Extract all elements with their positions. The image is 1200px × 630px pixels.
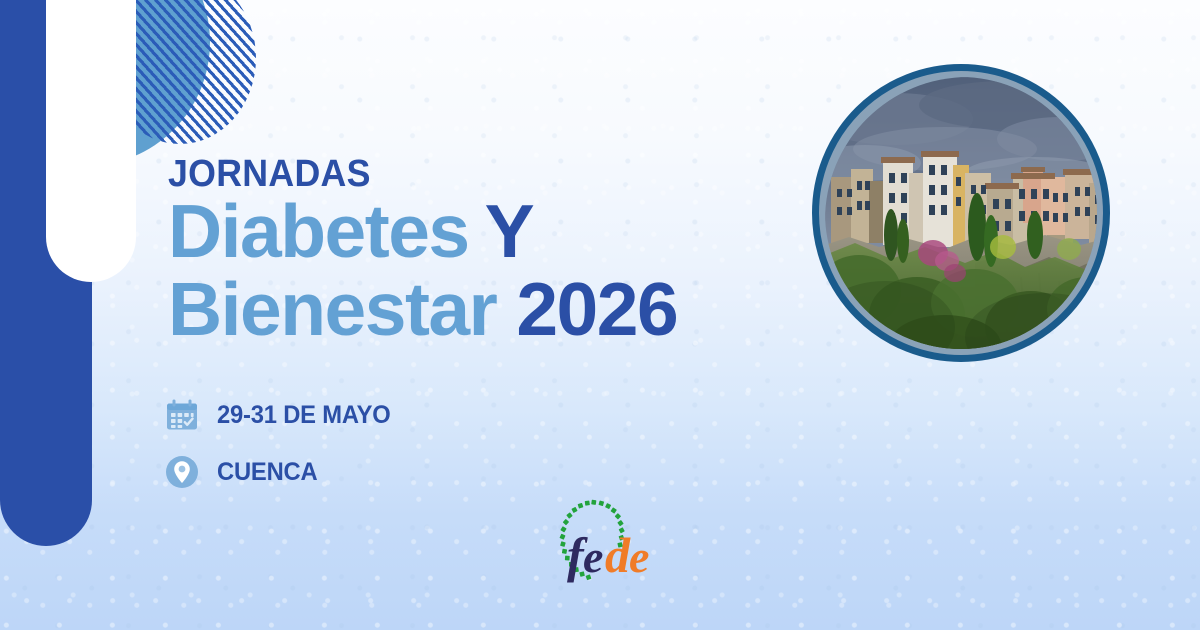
event-location-text: CUENCA xyxy=(217,458,317,487)
title-word-year: 2026 xyxy=(516,267,677,351)
calendar-icon xyxy=(163,396,201,434)
title-line-1: DiabetesY xyxy=(168,195,677,267)
fede-letter-e2: e xyxy=(629,531,649,582)
event-banner: JORNADAS DiabetesY Bienestar2026 xyxy=(0,0,1200,630)
title-word-diabetes: Diabetes xyxy=(168,189,469,273)
fede-logo: f e d e xyxy=(545,498,655,590)
meta-row-location: CUENCA xyxy=(163,453,400,491)
event-meta-block: 29-31 DE MAYO CUENCA xyxy=(163,396,400,510)
cuenca-hanging-houses-photo xyxy=(825,77,1097,349)
map-pin-icon xyxy=(163,453,201,491)
kicker-label: JORNADAS xyxy=(168,155,647,193)
fede-logo-mark: f e d e xyxy=(545,498,655,590)
fede-letter-d: d xyxy=(605,527,631,583)
title-line-2: Bienestar2026 xyxy=(168,273,677,345)
meta-row-date: 29-31 DE MAYO xyxy=(163,396,400,434)
decorative-white-pill xyxy=(46,0,136,282)
title-word-bienestar: Bienestar xyxy=(168,267,496,351)
title-word-y: Y xyxy=(485,189,534,273)
cuenca-photo-circle xyxy=(812,64,1110,362)
event-date-text: 29-31 DE MAYO xyxy=(217,401,391,430)
cuenca-photo-inner xyxy=(825,77,1097,349)
fede-letter-e1: e xyxy=(583,531,603,582)
headline-block: JORNADAS DiabetesY Bienestar2026 xyxy=(168,155,677,345)
